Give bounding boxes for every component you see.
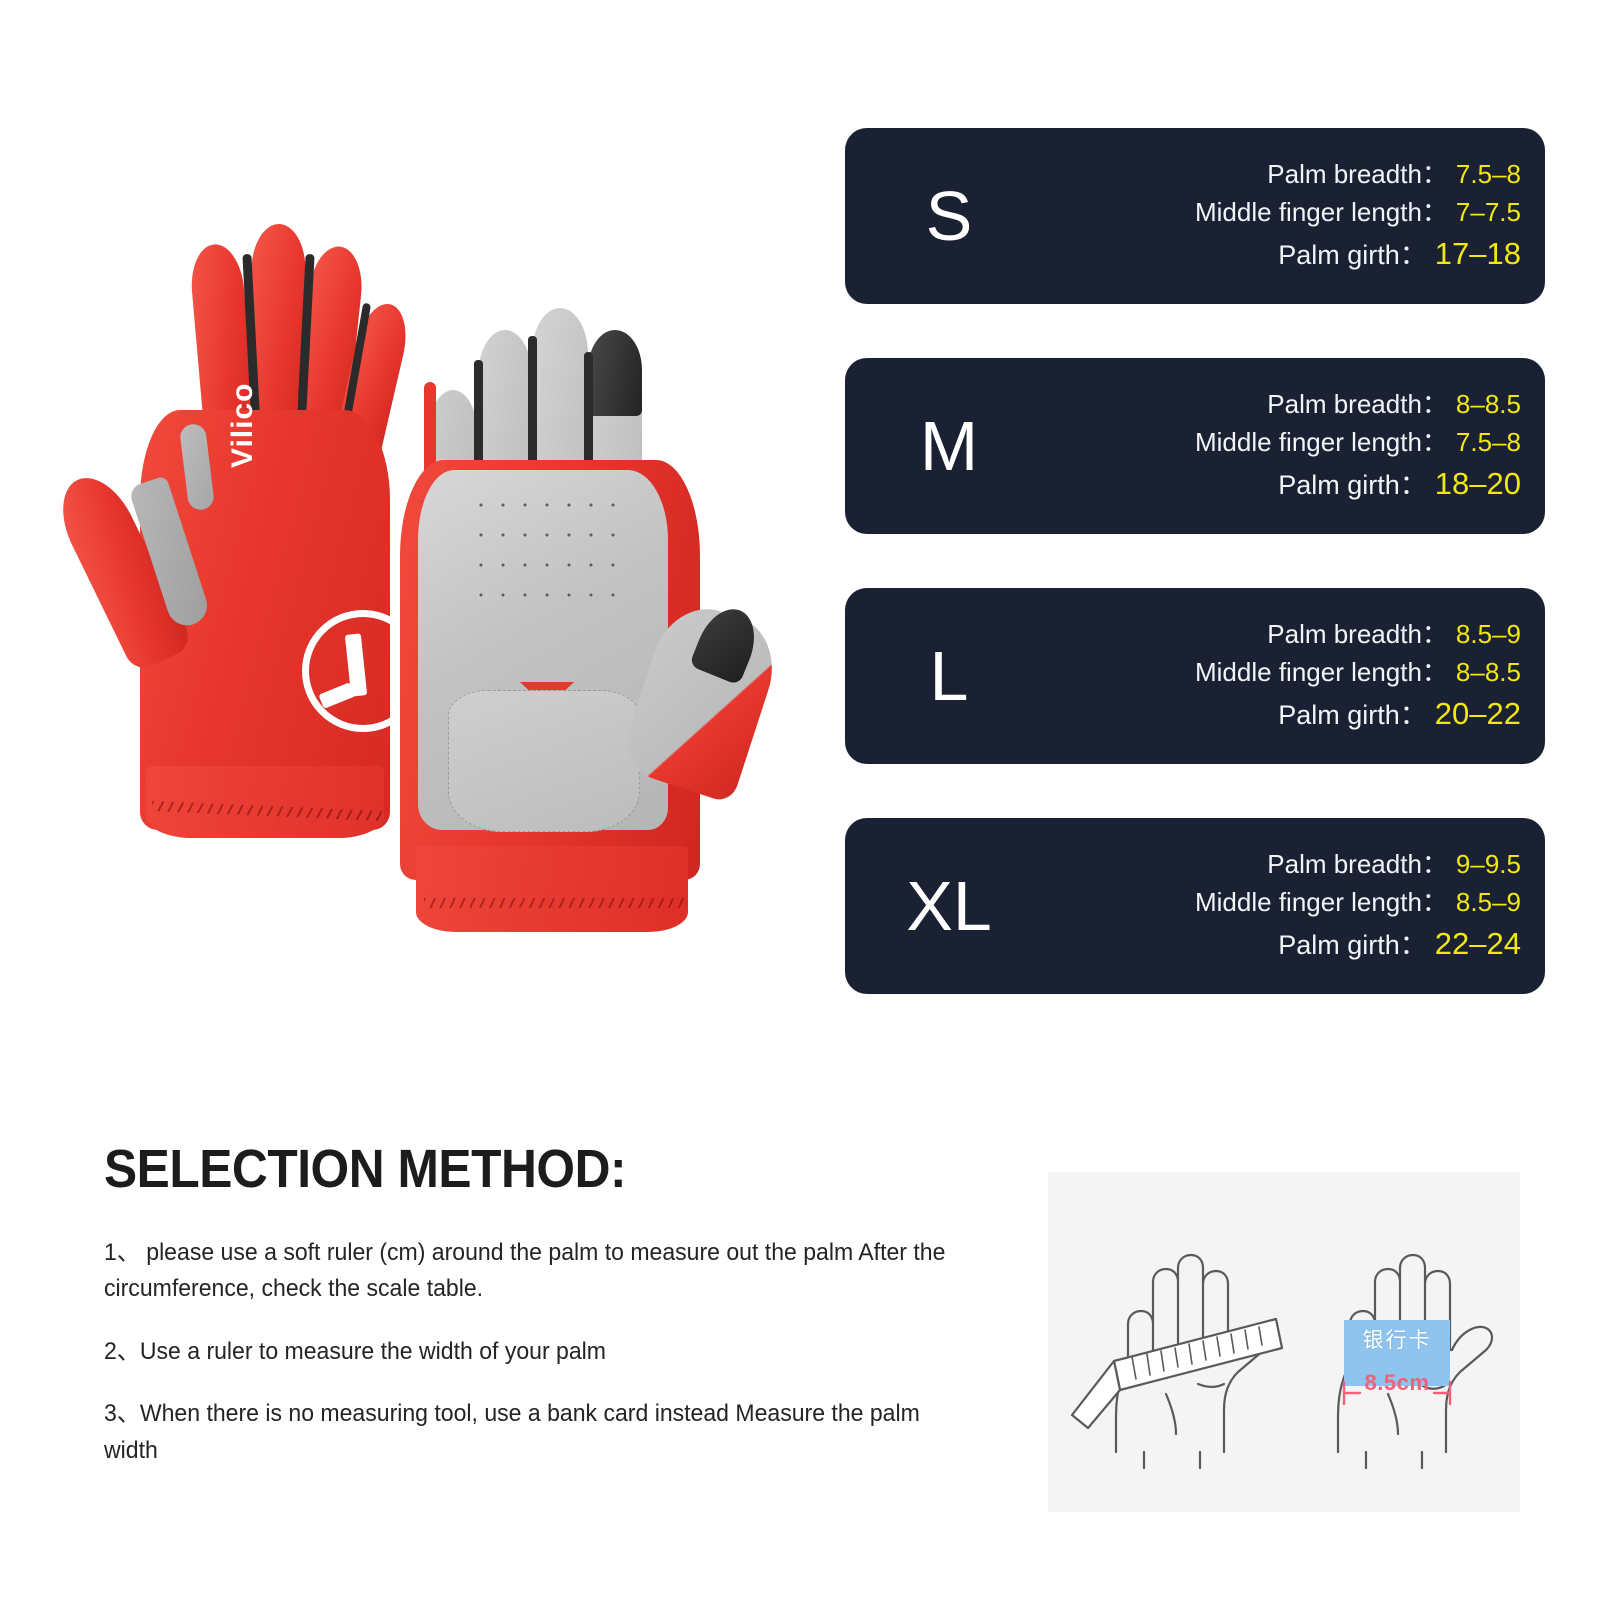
spec-value: 17–18 [1435, 236, 1521, 271]
size-card-xl[interactable]: XL Palm breadth：9–9.5 Middle finger leng… [845, 818, 1545, 994]
bank-card-label: 银行卡 [1344, 1324, 1450, 1354]
spec-value: 22–24 [1435, 926, 1521, 961]
spec-value: 7–7.5 [1456, 197, 1521, 227]
size-card-list: S Palm breadth：7.5–8 Middle finger lengt… [845, 128, 1545, 1048]
spec-label: Middle finger length： [1195, 887, 1448, 917]
spec-value: 20–22 [1435, 696, 1521, 731]
selection-method-section: SELECTION METHOD: 1、 please use a soft r… [0, 1080, 1600, 1600]
method-step-2: 2、Use a ruler to measure the width of yo… [104, 1334, 949, 1370]
selection-method-title: SELECTION METHOD: [104, 1138, 626, 1200]
spec-value: 9–9.5 [1456, 849, 1521, 879]
spec-palm-girth: Palm girth：17–18 [1278, 234, 1521, 274]
glove-cuff-palm [416, 846, 688, 932]
size-specs: Palm breadth：9–9.5 Middle finger length：… [1019, 848, 1529, 964]
size-specs: Palm breadth：8–8.5 Middle finger length：… [1019, 388, 1529, 504]
size-card-s[interactable]: S Palm breadth：7.5–8 Middle finger lengt… [845, 128, 1545, 304]
spec-palm-breadth: Palm breadth：8–8.5 [1267, 388, 1521, 421]
spec-label: Palm breadth： [1267, 159, 1448, 189]
spec-value: 18–20 [1435, 466, 1521, 501]
size-specs: Palm breadth：7.5–8 Middle finger length：… [1019, 158, 1529, 274]
size-chart-section: Vilico S [0, 0, 1600, 1080]
glove-palm-index-touch-tip [588, 330, 642, 416]
size-card-m[interactable]: M Palm breadth：8–8.5 Middle finger lengt… [845, 358, 1545, 534]
spec-middle-finger-length: Middle finger length：7.5–8 [1195, 426, 1521, 459]
spec-value: 8.5–9 [1456, 887, 1521, 917]
spec-label: Palm breadth： [1267, 619, 1448, 649]
size-label: L [879, 641, 1019, 711]
spec-label: Palm breadth： [1267, 849, 1448, 879]
spec-label: Palm girth： [1278, 470, 1427, 500]
glove-palm-side [370, 290, 790, 990]
size-specs: Palm breadth：8.5–9 Middle finger length：… [1019, 618, 1529, 734]
spec-value: 8.5–9 [1456, 619, 1521, 649]
method-step-1: 1、 please use a soft ruler (cm) around t… [104, 1235, 949, 1308]
spec-middle-finger-length: Middle finger length：8.5–9 [1195, 886, 1521, 919]
spec-palm-girth: Palm girth：20–22 [1278, 694, 1521, 734]
brand-wordmark: Vilico [226, 383, 260, 468]
spec-label: Palm girth： [1278, 700, 1427, 730]
size-label: M [879, 411, 1019, 481]
spec-value: 8–8.5 [1456, 389, 1521, 419]
glove-cuff-back [146, 766, 384, 838]
spec-palm-girth: Palm girth：22–24 [1278, 924, 1521, 964]
spec-label: Middle finger length： [1195, 657, 1448, 687]
spec-palm-breadth: Palm breadth：8.5–9 [1267, 618, 1521, 651]
size-label: S [879, 181, 1019, 251]
spec-palm-breadth: Palm breadth：9–9.5 [1267, 848, 1521, 881]
selection-method-steps: 1、 please use a soft ruler (cm) around t… [104, 1235, 984, 1495]
spec-middle-finger-length: Middle finger length：8–8.5 [1195, 656, 1521, 689]
method-step-3: 3、When there is no measuring tool, use a… [104, 1396, 949, 1469]
spec-value: 8–8.5 [1456, 657, 1521, 687]
glove-product-photo: Vilico [40, 60, 820, 1000]
card-width-label: 8.5cm [1334, 1370, 1460, 1396]
spec-label: Palm girth： [1278, 930, 1427, 960]
hand-measurement-illustration: 银行卡 8.5cm [1048, 1172, 1520, 1512]
spec-value: 7.5–8 [1456, 427, 1521, 457]
spec-label: Palm breadth： [1267, 389, 1448, 419]
spec-label: Middle finger length： [1195, 427, 1448, 457]
size-card-l[interactable]: L Palm breadth：8.5–9 Middle finger lengt… [845, 588, 1545, 764]
size-label: XL [879, 871, 1019, 941]
spec-palm-breadth: Palm breadth：7.5–8 [1267, 158, 1521, 191]
spec-label: Palm girth： [1278, 240, 1427, 270]
spec-value: 7.5–8 [1456, 159, 1521, 189]
spec-label: Middle finger length： [1195, 197, 1448, 227]
spec-middle-finger-length: Middle finger length：7–7.5 [1195, 196, 1521, 229]
glove-palm-lower-pad [448, 690, 640, 832]
spec-palm-girth: Palm girth：18–20 [1278, 464, 1521, 504]
glove-palm-perforations [470, 490, 620, 610]
